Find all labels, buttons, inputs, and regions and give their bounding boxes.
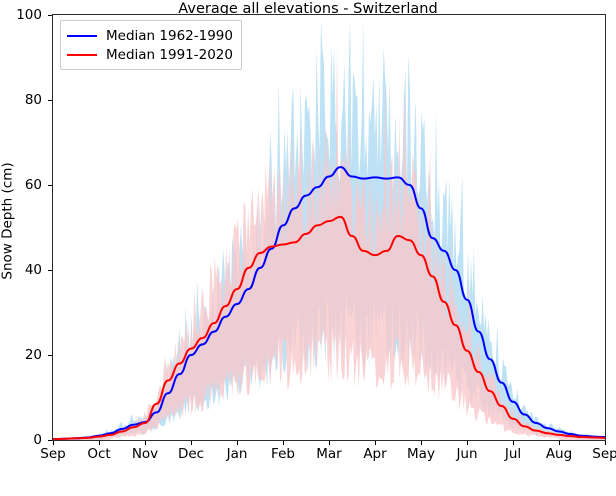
chart-legend: Median 1962-1990 Median 1991-2020 — [60, 20, 242, 70]
x-tick-mark — [513, 441, 514, 445]
x-tick-label: Dec — [178, 446, 204, 462]
x-tick-label: Mar — [316, 446, 341, 462]
legend-label-1991-2020: Median 1991-2020 — [106, 47, 233, 63]
x-tick-mark — [145, 441, 146, 445]
x-tick-mark — [559, 441, 560, 445]
x-tick-mark — [467, 441, 468, 445]
x-tick-label: Jun — [456, 446, 477, 462]
y-axis-label: Snow Depth (cm) — [0, 0, 18, 441]
band-1991-2020 — [53, 44, 605, 440]
legend-swatch-blue — [67, 35, 97, 37]
x-tick-mark — [421, 441, 422, 445]
y-tick-label: 40 — [8, 262, 42, 278]
x-tick-label: Sep — [40, 446, 65, 462]
x-tick-label: Feb — [271, 446, 295, 462]
legend-item-1962-1990: Median 1962-1990 — [67, 26, 233, 45]
x-tick-label: Nov — [132, 446, 158, 462]
y-tick-label: 60 — [8, 177, 42, 193]
x-tick-label: May — [407, 446, 435, 462]
x-tick-label: Sep — [592, 446, 616, 462]
chart-svg — [53, 15, 605, 440]
x-tick-mark — [99, 441, 100, 445]
x-tick-label: Jan — [227, 446, 248, 462]
legend-item-1991-2020: Median 1991-2020 — [67, 45, 233, 64]
chart-figure: Average all elevations - Switzerland Sno… — [0, 0, 616, 496]
x-tick-mark — [237, 441, 238, 445]
legend-swatch-red — [67, 54, 97, 56]
x-tick-mark — [283, 441, 284, 445]
x-tick-mark — [605, 441, 606, 445]
x-tick-label: Aug — [546, 446, 572, 462]
x-tick-label: Oct — [87, 446, 110, 462]
x-tick-label: Apr — [363, 446, 386, 462]
x-tick-label: Jul — [505, 446, 521, 462]
x-tick-mark — [375, 441, 376, 445]
plot-area — [52, 14, 606, 441]
legend-label-1962-1990: Median 1962-1990 — [106, 28, 233, 44]
y-tick-label: 80 — [8, 92, 42, 108]
y-tick-label: 0 — [8, 432, 42, 448]
y-tick-label: 100 — [8, 7, 42, 23]
x-tick-mark — [191, 441, 192, 445]
x-tick-mark — [53, 441, 54, 445]
y-tick-label: 20 — [8, 347, 42, 363]
x-tick-mark — [329, 441, 330, 445]
band-1991-2020-group — [53, 44, 605, 440]
